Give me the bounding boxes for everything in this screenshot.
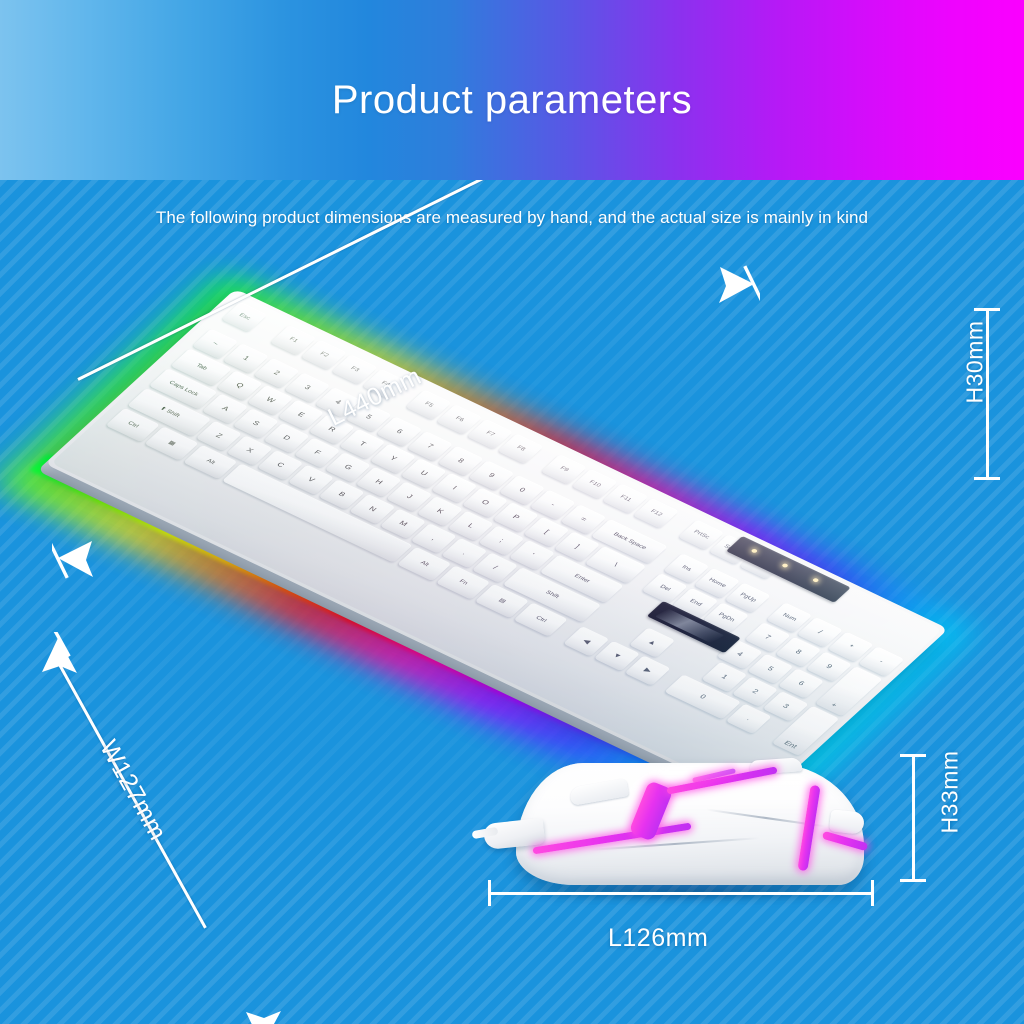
dimension-label-keyboard-height: H30mm — [962, 320, 989, 403]
mouse-rear-panel — [829, 809, 865, 834]
arrowhead-length-left — [52, 532, 108, 593]
dimension-label-mouse-length: L126mm — [608, 924, 708, 953]
led-indicator-num — [750, 548, 758, 553]
hbeam-stem — [488, 892, 874, 895]
arrowhead-width-bottom — [232, 992, 292, 1024]
ibeam-stem — [912, 754, 915, 882]
led-indicator-caps — [781, 563, 789, 568]
page-title: Product parameters — [0, 78, 1024, 123]
ibeam-cap-bottom — [900, 879, 926, 882]
product-parameters-infographic: Product parameters The following product… — [0, 0, 1024, 1024]
body-area: The following product dimensions are mea… — [0, 180, 1024, 1024]
led-indicator-scroll — [812, 578, 820, 583]
ibeam-cap-bottom — [974, 477, 1000, 480]
product-photo-stage: Esc F1 F2 F3 F4 F5 F6 F7 F8 F — [0, 180, 1024, 1024]
hbeam-cap-right — [871, 880, 874, 906]
dimension-label-mouse-height: H33mm — [937, 750, 964, 833]
dimension-hbeam-mouse-length — [488, 880, 874, 906]
header-banner: Product parameters — [0, 0, 1024, 180]
dimension-ibeam-mouse-height — [900, 754, 926, 882]
arrowhead-width-top — [32, 632, 88, 693]
arrowhead-length-right — [700, 258, 760, 323]
